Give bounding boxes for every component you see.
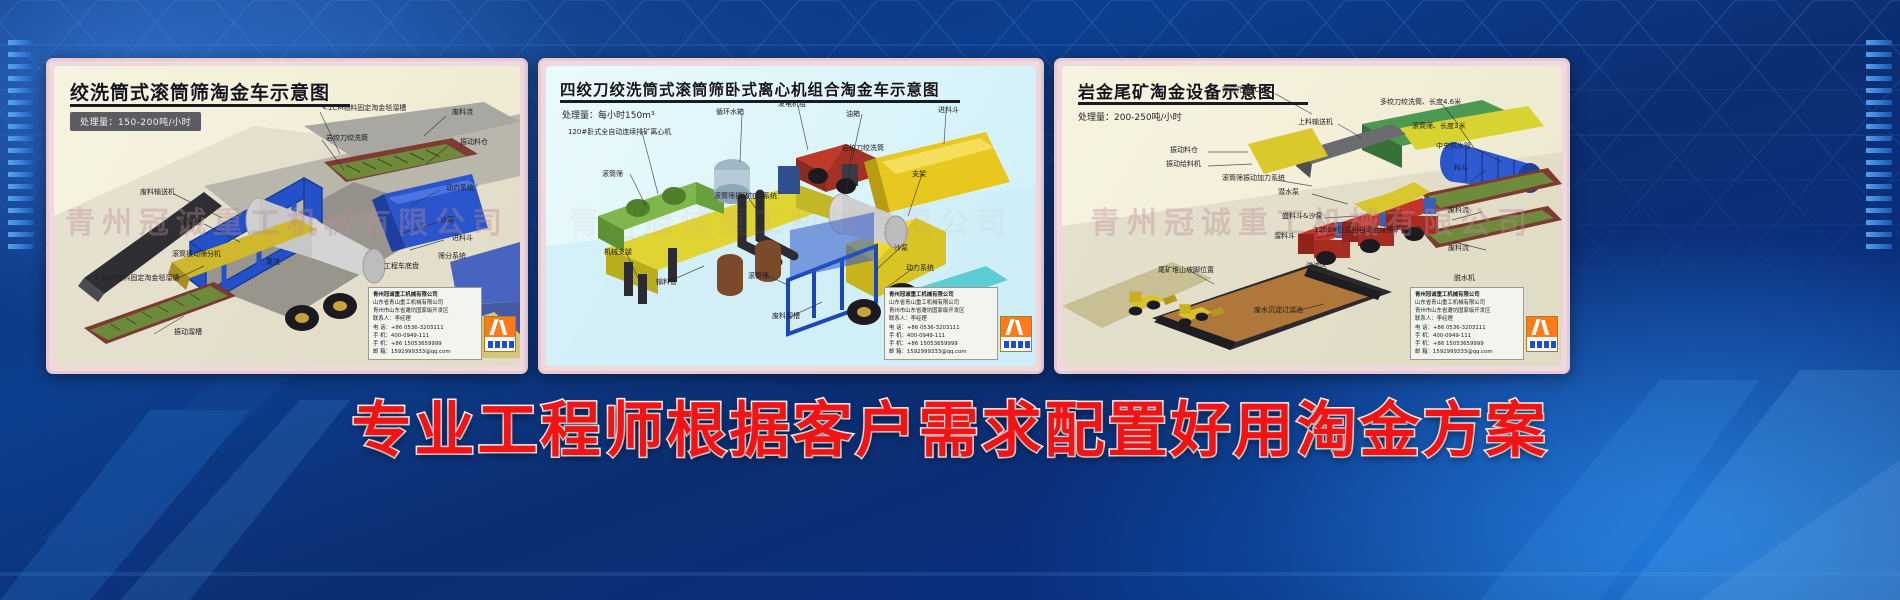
callout-label: 滚筒筛、长度3米 [1412,122,1465,130]
callout-label: 输料管 [656,278,677,286]
callout-label: 筛分系统 [438,252,466,260]
contact-company: 青州冠诚重工机械有限公司 [1415,291,1519,299]
callout-label: 料斗 [1454,164,1468,172]
callout-label: 废料流 [1448,244,1469,252]
callout-label: 沙泵 [894,244,908,252]
contact-person: 联系人：李经理 [1415,315,1519,323]
contact-phone-label: 电 话： [1415,325,1433,331]
headline-text: 专业工程师根据客户需求配置好用淘金方案 [0,382,1900,469]
callout-label: 发电机组 [778,100,806,108]
diagram-panel-3[interactable]: 青州冠诚重工机械有限公司 岩金尾矿淘金设备示意图 处理量：200-250吨/小时… [1054,58,1570,374]
callout-label: 油箱 [846,110,860,118]
contact-email: 1592999333@qq.com [391,349,451,355]
callout-label: 1200#卧式全自动连续排矿离心机 [1314,226,1422,234]
callout-label: <1CM物料固定淘金毯溜槽 [322,104,406,112]
company-logo-icon [1526,316,1558,352]
callout-label: 进料斗 [938,106,959,114]
callout-label: 进料斗 [452,234,473,242]
callout-label: 滚筒筛 [748,272,769,280]
contact-address: 青州市山东省潍坊国家级开发区 [889,307,993,315]
callout-label: 1-3CM物料固定淘金毯溜槽 [94,274,179,282]
panel-3-title-rule [1078,102,1308,105]
contact-email-label: 邮 箱： [373,349,391,355]
contact-mobile-label: 手 机： [889,341,907,347]
contact-email: 1592999333@qq.com [1433,349,1493,355]
panel-3-capacity: 处理量：200-250吨/小时 [1078,110,1182,123]
diagram-panel-2[interactable]: 青州冠诚重工机械有限公司 四绞刀绞洗筒式滚筒筛卧式离心机组合淘金车示意图 处理量… [538,58,1044,374]
callout-label: 支架 [912,170,926,178]
callout-label: 滚筒筛振动加力系统 [1222,174,1285,182]
callout-label: 上料输送机 [1298,118,1333,126]
contact-company: 青州冠诚重工机械有限公司 [889,291,993,299]
panel-1-contact-card: 青州冠诚重工机械有限公司 山东省青山重工机械有限公司 青州市山东省潍坊国家级开发… [368,287,482,360]
callout-label: 机械支腿 [604,248,632,256]
callout-label: 滚筒筛振动加力系统 [714,192,777,200]
callout-label: 振动料仓 [1170,146,1198,154]
company-logo-icon [484,316,516,352]
callout-label: 尾流 [266,258,280,266]
panel-1-capacity: 处理量：150-200吨/小时 [70,112,201,131]
callout-label: 废水沉淀过滤池 [1254,306,1303,314]
panel-2-capacity: 处理量：每小时150m³ [562,108,655,121]
callout-label: 动力系统 [906,264,934,272]
callout-label: 废料流 [1448,206,1469,214]
contact-email-label: 邮 箱： [889,349,907,355]
callout-label: 动力系统 [446,184,474,192]
callout-label: 潜水泵 [1278,188,1299,196]
contact-mobile: +86 15053659999 [1433,341,1484,347]
contact-phone: +86 0536-3203111 [1433,325,1486,331]
callout-label: 120#卧式全自动连续排矿离心机 [568,128,671,136]
contact-tel-label: 手 机： [889,333,907,339]
contact-email-label: 邮 箱： [1415,349,1433,355]
contact-tel-label: 手 机： [1415,333,1433,339]
diagonal-light-streaks [0,340,1900,600]
contact-address: 青州市山东省潍坊国家级开发区 [373,307,477,315]
contact-tel: 400-0949-111 [907,333,945,339]
contact-mobile-label: 手 机： [373,341,391,347]
contact-company-2: 山东省青山重工机械有限公司 [373,299,477,307]
callout-label: 溢流区 [1306,262,1327,270]
contact-phone-label: 电 话： [373,325,391,331]
contact-tel: 400-0949-111 [391,333,429,339]
panel-2-contact-card: 青州冠诚重工机械有限公司 山东省青山重工机械有限公司 青州市山东省潍坊国家级开发… [884,287,998,360]
contact-mobile: +86 15053659999 [907,341,958,347]
left-tick-column [8,40,34,370]
callout-label: 盛料斗&沙泵 [1282,212,1322,220]
callout-label: 岩绞刀绞洗筒 [326,134,368,142]
callout-label: 滚筒振动筛分机 [172,250,221,258]
contact-person: 联系人：李经理 [889,315,993,323]
callout-label: 岩绞刀绞洗筒 [842,144,884,152]
contact-phone: +86 0536-3203111 [907,325,960,331]
callout-label: 废料流 [452,108,473,116]
contact-company-2: 山东省青山重工机械有限公司 [889,299,993,307]
callout-label: 筛网孔径3CM [1222,86,1265,94]
callout-label: 振动给料机 [1166,160,1201,168]
callout-label: 滚筒筛 [602,170,623,178]
contact-phone: +86 0536-3203111 [391,325,444,331]
panel-3-contact-card: 青州冠诚重工机械有限公司 山东省青山重工机械有限公司 青州市山东省潍坊国家级开发… [1410,287,1524,360]
callout-label: 振动料仓 [460,138,488,146]
callout-label: 多绞刀绞洗筒、长度4.6米 [1380,98,1461,106]
panel-1-title-rule [70,104,350,107]
callout-label: 中央供水管 [1436,142,1471,150]
contact-tel-label: 手 机： [373,333,391,339]
contact-company: 青州冠诚重工机械有限公司 [373,291,477,299]
panel-2-title: 四绞刀绞洗筒式滚筒筛卧式离心机组合淘金车示意图 [560,78,940,100]
callout-label: 废料溜槽 [772,312,800,320]
panel-3-canvas: 青州冠诚重工机械有限公司 岩金尾矿淘金设备示意图 处理量：200-250吨/小时… [1062,66,1562,366]
callout-label: 废料输送机 [140,188,175,196]
diagram-panel-1[interactable]: 青州冠诚重工机械有限公司 绞洗筒式滚筒筛淘金车示意图 处理量：150-200吨/… [46,58,528,374]
contact-mobile: +86 15053659999 [391,341,442,347]
callout-label: 工程车底盘 [384,262,419,270]
panel-2-title-rule [560,100,960,103]
contact-phone-label: 电 话： [889,325,907,331]
contact-email: 1592999333@qq.com [907,349,967,355]
contact-company-2: 山东省青山重工机械有限公司 [1415,299,1519,307]
contact-tel: 400-0949-111 [1433,333,1471,339]
banner-stage: 青州冠诚重工机械有限公司 绞洗筒式滚筒筛淘金车示意图 处理量：150-200吨/… [0,0,1900,600]
panel-1-title: 绞洗筒式滚筒筛淘金车示意图 [70,78,330,105]
callout-label: 滚筒筛 [180,218,201,226]
callout-label: 脱水机 [1454,274,1475,282]
callout-label: 循环水箱 [716,108,744,116]
contact-mobile-label: 手 机： [1415,341,1433,347]
callout-label: 振动溜槽 [174,328,202,336]
panel-1-canvas: 青州冠诚重工机械有限公司 绞洗筒式滚筒筛淘金车示意图 处理量：150-200吨/… [54,66,520,366]
panel-2-canvas: 青州冠诚重工机械有限公司 四绞刀绞洗筒式滚筒筛卧式离心机组合淘金车示意图 处理量… [546,66,1036,366]
callout-label: 尾矿堆山坡脚位置 [1158,266,1214,274]
right-tick-column [1866,40,1892,370]
callout-label: 溜料斗 [1274,232,1295,240]
callout-label: 沙泵 [440,216,454,224]
contact-address: 青州市山东省潍坊国家级开发区 [1415,307,1519,315]
contact-person: 联系人：李经理 [373,315,477,323]
company-logo-icon [1000,316,1032,352]
